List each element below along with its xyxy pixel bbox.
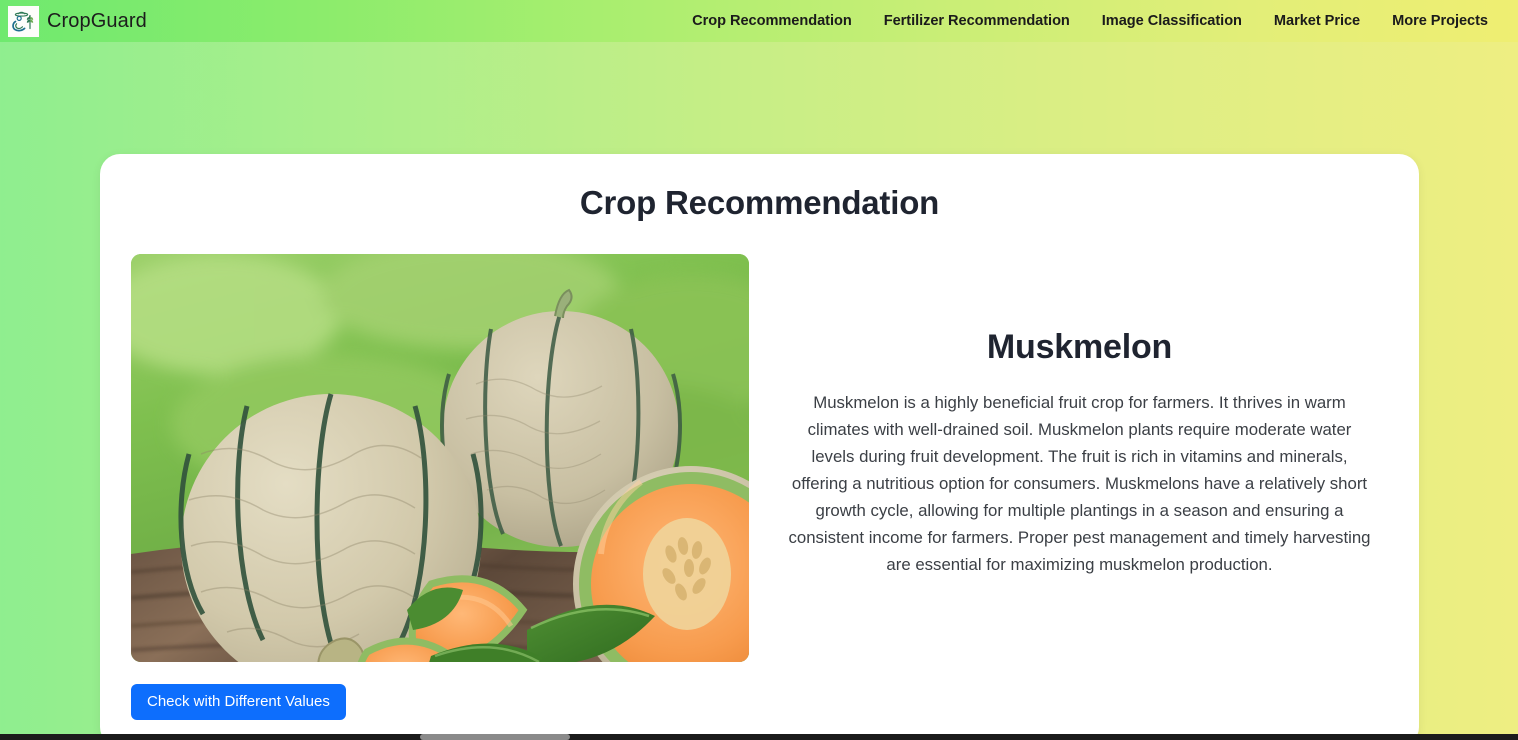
brand-logo-link[interactable]: CropGuard xyxy=(8,6,147,37)
scrollbar-thumb[interactable] xyxy=(420,734,570,740)
nav-item: Fertilizer Recommendation xyxy=(868,7,1086,35)
nav-link-more-projects[interactable]: More Projects xyxy=(1376,7,1504,35)
nav-link-image-classification[interactable]: Image Classification xyxy=(1086,7,1258,35)
card-body: Check with Different Values Muskmelon Mu… xyxy=(100,254,1419,720)
nav-link-crop-recommendation[interactable]: Crop Recommendation xyxy=(676,7,868,35)
muskmelon-photo xyxy=(131,254,749,662)
top-navbar: CropGuard Crop Recommendation Fertilizer… xyxy=(0,0,1518,42)
nav-item: Image Classification xyxy=(1086,7,1258,35)
farmer-wheat-logo-icon xyxy=(8,6,39,37)
brand-name: CropGuard xyxy=(47,11,147,31)
check-with-different-values-button[interactable]: Check with Different Values xyxy=(131,684,346,720)
nav-item: Crop Recommendation xyxy=(676,7,868,35)
nav-link-fertilizer-recommendation[interactable]: Fertilizer Recommendation xyxy=(868,7,1086,35)
page-title: Crop Recommendation xyxy=(100,184,1419,222)
crop-info-column: Muskmelon Muskmelon is a highly benefici… xyxy=(750,254,1419,578)
crop-description: Muskmelon is a highly beneficial fruit c… xyxy=(770,389,1389,578)
nav-link-market-price[interactable]: Market Price xyxy=(1258,7,1376,35)
image-column: Check with Different Values xyxy=(100,254,750,720)
horizontal-scrollbar[interactable] xyxy=(0,734,1518,740)
crop-recommendation-card: Crop Recommendation xyxy=(100,154,1419,740)
nav-item: More Projects xyxy=(1376,7,1504,35)
nav-links: Crop Recommendation Fertilizer Recommend… xyxy=(676,7,1504,35)
nav-item: Market Price xyxy=(1258,7,1376,35)
crop-name-heading: Muskmelon xyxy=(770,328,1389,367)
